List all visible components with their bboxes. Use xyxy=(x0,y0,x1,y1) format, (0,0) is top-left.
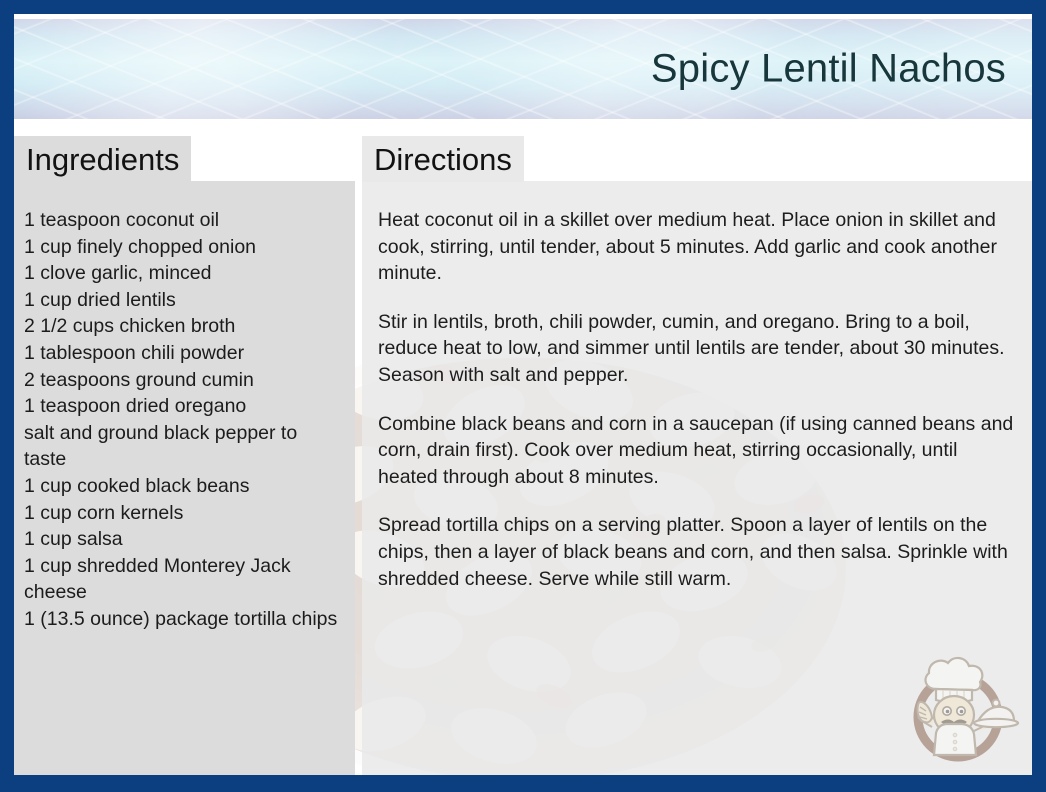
ingredients-content: 1 teaspoon coconut oil 1 cup finely chop… xyxy=(14,124,355,633)
recipe-columns: Ingredients 1 teaspoon coconut oil 1 cup… xyxy=(14,124,1032,775)
ingredient-list: 1 teaspoon coconut oil 1 cup finely chop… xyxy=(24,207,341,633)
list-item: 1 teaspoon coconut oil xyxy=(24,207,341,234)
direction-step: Spread tortilla chips on a serving platt… xyxy=(378,512,1018,592)
direction-step: Heat coconut oil in a skillet over mediu… xyxy=(378,207,1018,287)
list-item: salt and ground black pepper to taste xyxy=(24,420,341,473)
direction-step: Combine black beans and corn in a saucep… xyxy=(378,411,1018,491)
list-item: 1 cup shredded Monterey Jack cheese xyxy=(24,553,341,606)
list-item: 1 tablespoon chili powder xyxy=(24,340,341,367)
list-item: 1 teaspoon dried oregano xyxy=(24,393,341,420)
list-item: 2 1/2 cups chicken broth xyxy=(24,313,341,340)
directions-steps: Heat coconut oil in a skillet over mediu… xyxy=(372,207,1018,592)
header-banner: Spicy Lentil Nachos xyxy=(14,19,1032,119)
ingredients-panel: Ingredients 1 teaspoon coconut oil 1 cup… xyxy=(14,124,355,775)
directions-panel: Directions Heat coconut oil in a skillet… xyxy=(362,124,1032,775)
page-title: Spicy Lentil Nachos xyxy=(651,47,1006,92)
list-item: 1 cup finely chopped onion xyxy=(24,234,341,261)
list-item: 1 cup cooked black beans xyxy=(24,473,341,500)
list-item: 1 clove garlic, minced xyxy=(24,260,341,287)
list-item: 1 cup salsa xyxy=(24,526,341,553)
recipe-page: Spicy Lentil Nachos xyxy=(14,14,1032,775)
list-item: 1 (13.5 ounce) package tortilla chips xyxy=(24,606,341,633)
list-item: 1 cup corn kernels xyxy=(24,500,341,527)
directions-content: Heat coconut oil in a skillet over mediu… xyxy=(362,124,1032,592)
direction-step: Stir in lentils, broth, chili powder, cu… xyxy=(378,309,1018,389)
list-item: 2 teaspoons ground cumin xyxy=(24,367,341,394)
list-item: 1 cup dried lentils xyxy=(24,287,341,314)
recipe-card-frame: Spicy Lentil Nachos xyxy=(0,0,1046,792)
